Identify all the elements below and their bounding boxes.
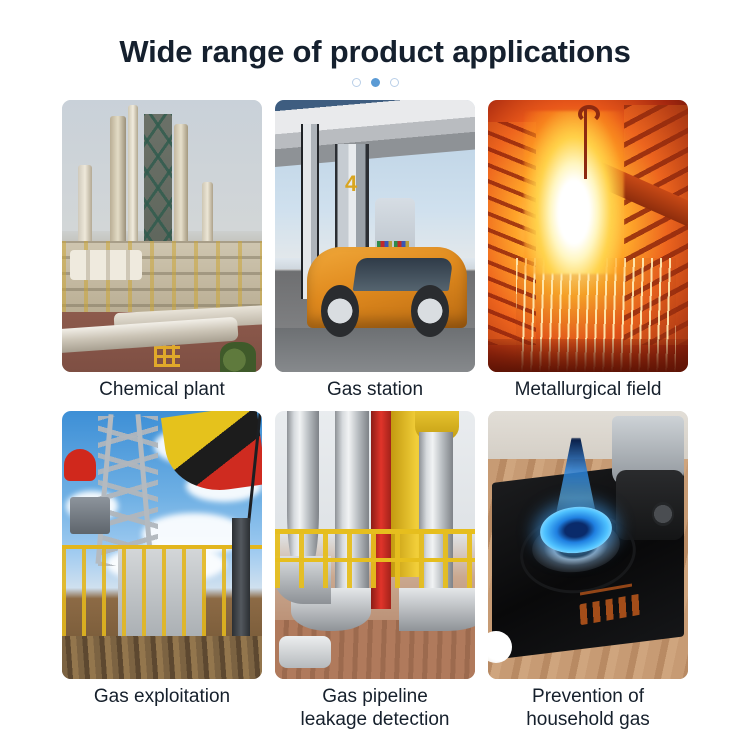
control-knob[interactable]: [652, 502, 674, 526]
application-card-gas-pipeline[interactable]: Gas pipeline leakage detection: [275, 411, 475, 731]
molten-flame: [524, 111, 624, 274]
wellhead: [232, 518, 250, 647]
gas-pipeline-image[interactable]: [275, 411, 475, 679]
carousel-dot-1[interactable]: [352, 78, 361, 87]
carousel-dot-3[interactable]: [390, 78, 399, 87]
card-caption: Chemical plant: [62, 372, 262, 401]
foliage: [220, 342, 256, 372]
gas-station-image[interactable]: 4: [275, 100, 475, 372]
metallurgical-field-image[interactable]: [488, 100, 688, 372]
yellow-railing-top: [275, 529, 475, 534]
yellow-railing-mid: [275, 558, 475, 562]
application-card-household-gas[interactable]: Prevention of household gas: [488, 411, 688, 731]
steel-pipe-bend: [399, 588, 475, 631]
pump-number-label: 4: [345, 171, 357, 197]
card-caption: Metallurgical field: [488, 372, 688, 401]
crane-cable: [584, 108, 587, 179]
car-wheel: [321, 285, 359, 337]
pumpjack-counterweight: [161, 411, 262, 498]
furnace-floor: [488, 339, 688, 372]
application-card-chemical-plant[interactable]: Chemical plant: [62, 100, 262, 401]
card-caption: Gas exploitation: [62, 679, 262, 708]
storage-drums: [70, 250, 142, 280]
card-caption: Gas pipeline leakage detection: [275, 679, 475, 731]
gas-exploitation-image[interactable]: [62, 411, 262, 679]
red-cap: [64, 449, 96, 481]
chemical-plant-image[interactable]: [62, 100, 262, 372]
application-card-metallurgical[interactable]: Metallurgical field: [488, 100, 688, 401]
application-card-gas-exploitation[interactable]: Gas exploitation: [62, 411, 262, 731]
dirt-ground: [62, 636, 262, 679]
carousel-dots[interactable]: [0, 78, 750, 87]
pump-motor: [70, 497, 110, 535]
application-card-gas-station[interactable]: 4 Gas station: [275, 100, 475, 401]
product-applications-page: Wide range of product applications: [0, 0, 750, 750]
forecourt-ground: [275, 328, 475, 372]
carousel-dot-2[interactable]: [371, 78, 380, 87]
page-title: Wide range of product applications: [0, 34, 750, 70]
horizontal-tank: [279, 636, 331, 668]
card-caption: Prevention of household gas: [488, 679, 688, 731]
application-grid: Chemical plant 4 Gas station: [62, 100, 688, 731]
card-caption: Gas station: [275, 372, 475, 401]
household-gas-image[interactable]: [488, 411, 688, 679]
car-windows: [353, 258, 454, 291]
car-wheel: [411, 285, 449, 337]
